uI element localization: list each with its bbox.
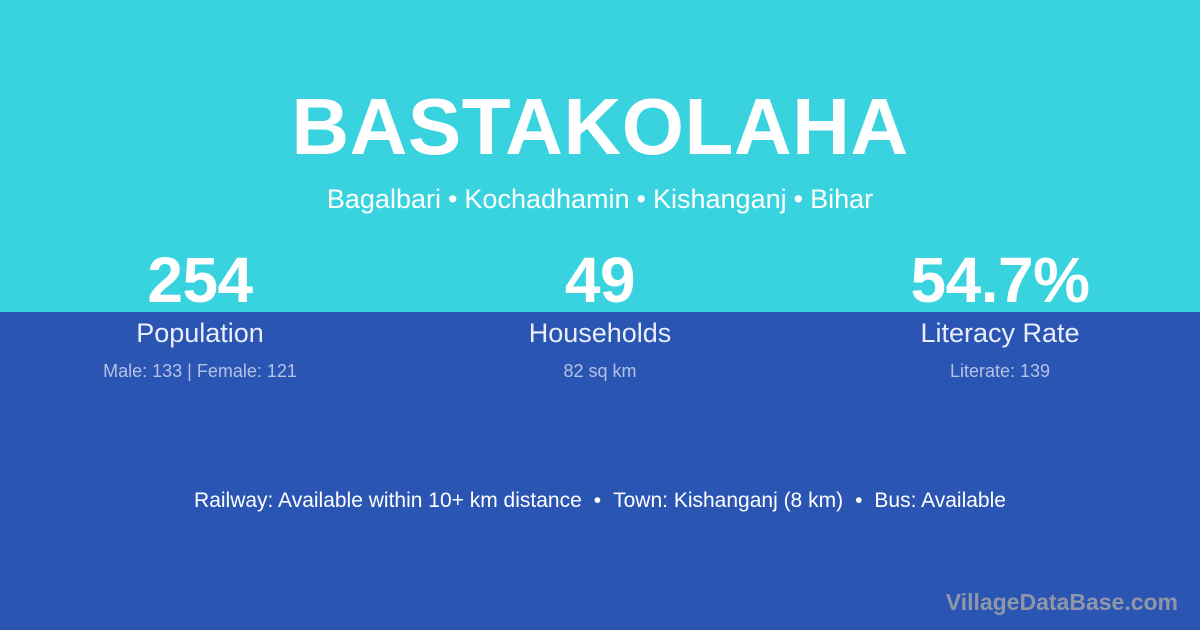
stat-value: 49 (400, 246, 800, 314)
location-breadcrumb: Bagalbari•Kochadhamin•Kishanganj•Bihar (0, 182, 1200, 216)
breadcrumb-village: Bagalbari (327, 184, 441, 214)
info-railway: Railway: Available within 10+ km distanc… (194, 489, 582, 512)
stat-households: 49 Households 82 sq km (400, 246, 800, 383)
stat-label: Population (0, 316, 400, 350)
stat-value: 254 (0, 246, 400, 314)
stats-row: 254 Population Male: 133 | Female: 121 4… (0, 246, 1200, 383)
info-separator-2: • (843, 489, 874, 512)
breadcrumb-district: Kishanganj (653, 184, 787, 214)
info-town: Town: Kishanganj (8 km) (613, 489, 843, 512)
page-title: BASTAKOLAHA (0, 82, 1200, 172)
info-separator-1: • (582, 489, 613, 512)
stat-literacy-rate: 54.7% Literacy Rate Literate: 139 (800, 246, 1200, 383)
stat-subtext: 82 sq km (400, 359, 800, 383)
stat-population: 254 Population Male: 133 | Female: 121 (0, 246, 400, 383)
stat-subtext: Male: 133 | Female: 121 (0, 359, 400, 383)
stat-label: Literacy Rate (800, 316, 1200, 350)
site-watermark: VillageDataBase.com (946, 588, 1178, 616)
stat-value: 54.7% (800, 246, 1200, 314)
breadcrumb-separator-3: • (787, 184, 810, 214)
breadcrumb-separator-1: • (441, 184, 464, 214)
stat-subtext: Literate: 139 (800, 359, 1200, 383)
village-info-card: BASTAKOLAHA Bagalbari•Kochadhamin•Kishan… (0, 0, 1200, 630)
breadcrumb-separator-2: • (630, 184, 653, 214)
stat-label: Households (400, 316, 800, 350)
breadcrumb-block: Kochadhamin (464, 184, 629, 214)
info-bus: Bus: Available (874, 489, 1006, 512)
breadcrumb-state: Bihar (810, 184, 873, 214)
connectivity-info: Railway: Available within 10+ km distanc… (0, 486, 1200, 516)
